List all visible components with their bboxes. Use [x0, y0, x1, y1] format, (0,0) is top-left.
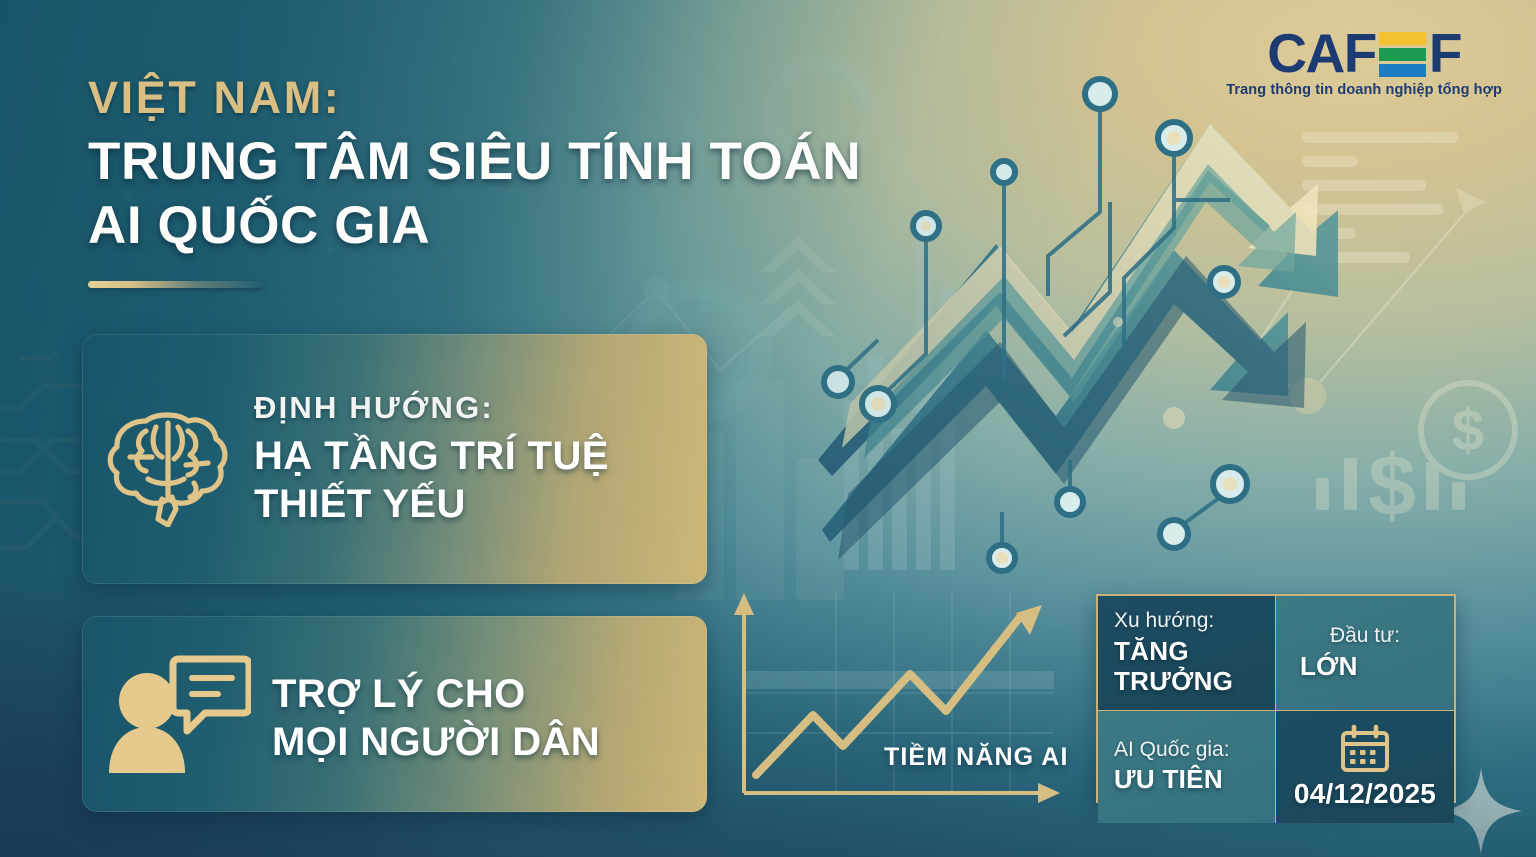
stat-date[interactable]: 04/12/2025 — [1276, 711, 1454, 823]
logo-text-f: F — [1429, 28, 1461, 79]
brain-icon-wrap — [82, 334, 254, 584]
stat-national-ai-label: AI Quốc gia: — [1114, 738, 1259, 763]
title-divider — [88, 281, 264, 288]
logo-text-caf: CAF — [1267, 28, 1376, 79]
stat-trend-value: TĂNG TRƯỞNG — [1114, 637, 1259, 697]
title-kicker: VIỆT NAM: — [88, 74, 878, 122]
card-orientation-text: ĐỊNH HƯỚNG: HẠ TẦNG TRÍ TUỆ THIẾT YẾU — [254, 391, 707, 527]
stat-national-ai-value: ƯU TIÊN — [1114, 765, 1259, 795]
calendar-icon — [1339, 724, 1391, 774]
card-orientation-head-1: HẠ TẦNG TRÍ TUỆ — [254, 433, 679, 479]
logo-wordmark: CAF F — [1226, 28, 1502, 79]
logo-bar-blue — [1379, 64, 1426, 77]
stat-investment[interactable]: Đầu tư: LỚN — [1276, 596, 1454, 711]
card-orientation-head-2: THIẾT YẾU — [254, 481, 679, 527]
cafef-logo[interactable]: CAF F Trang thông tin doanh nghiệp tổng … — [1226, 28, 1502, 98]
line-chart-svg — [724, 583, 1074, 821]
stat-trend-label: Xu hướng: — [1114, 609, 1259, 634]
chart-label: TIỀM NĂNG AI — [884, 743, 1069, 772]
card-assistant-text: TRỢ LÝ CHO MỌI NGƯỜI DÂN — [272, 663, 707, 765]
logo-e-bars — [1379, 29, 1426, 77]
title-line-1: TRUNG TÂM SIÊU TÍNH TOÁN — [88, 132, 878, 192]
stat-trend[interactable]: Xu hướng: TĂNG TRƯỞNG — [1098, 596, 1276, 711]
stat-date-value: 04/12/2025 — [1294, 778, 1436, 810]
stats-grid: Xu hướng: TĂNG TRƯỞNG Đầu tư: LỚN AI Quố… — [1096, 594, 1456, 803]
potential-line-chart: TIỀM NĂNG AI — [724, 583, 1074, 821]
x-axis-arrowhead — [1038, 783, 1060, 803]
logo-tagline: Trang thông tin doanh nghiệp tổng hợp — [1226, 82, 1502, 98]
stat-investment-value: LỚN — [1300, 652, 1358, 682]
brain-icon — [100, 391, 236, 527]
card-orientation[interactable]: ĐỊNH HƯỚNG: HẠ TẦNG TRÍ TUỆ THIẾT YẾU — [82, 334, 707, 584]
logo-bar-yellow — [1379, 32, 1426, 45]
logo-bar-green — [1379, 48, 1426, 61]
page-title: VIỆT NAM: TRUNG TÂM SIÊU TÍNH TOÁN AI QU… — [88, 74, 878, 288]
card-assistant-head-1: TRỢ LÝ CHO — [272, 671, 679, 717]
card-orientation-label: ĐỊNH HƯỚNG: — [254, 391, 679, 425]
card-assistant[interactable]: TRỢ LÝ CHO MỌI NGƯỜI DÂN — [82, 616, 707, 812]
card-assistant-head-2: MỌI NGƯỜI DÂN — [272, 719, 679, 765]
y-axis-arrowhead — [734, 593, 754, 615]
person-chat-icon — [103, 651, 251, 777]
person-chat-icon-wrap — [82, 616, 272, 812]
title-line-2: AI QUỐC GIA — [88, 196, 878, 256]
infographic-canvas: $ $ — [0, 0, 1536, 857]
stat-investment-label: Đầu tư: — [1330, 624, 1400, 649]
stat-national-ai[interactable]: AI Quốc gia: ƯU TIÊN — [1098, 711, 1276, 823]
